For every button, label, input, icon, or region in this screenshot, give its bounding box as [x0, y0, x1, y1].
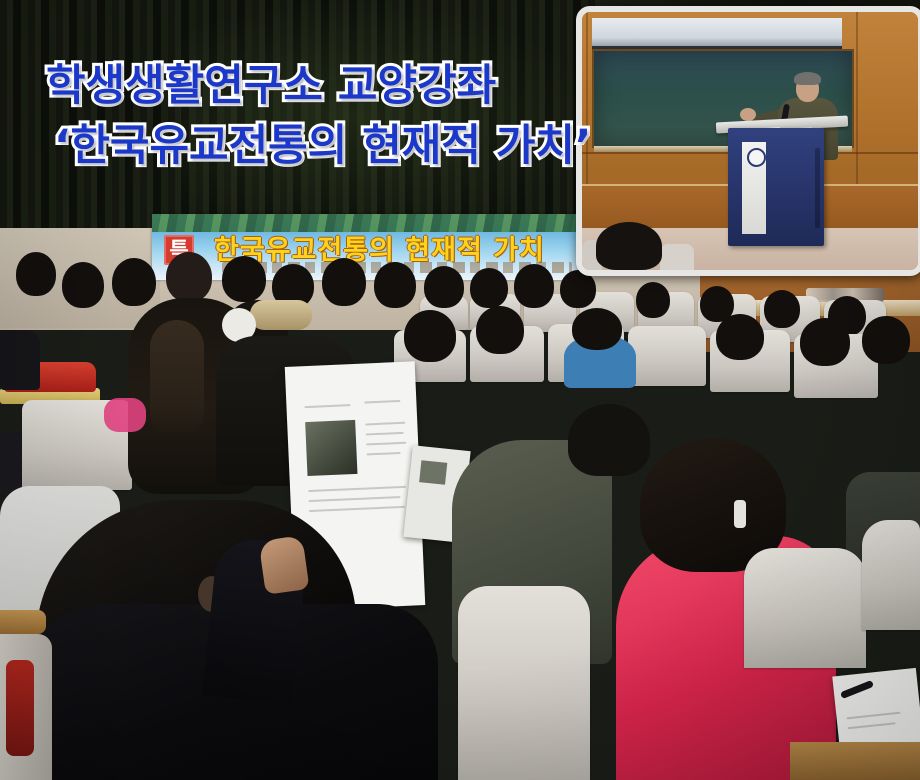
inset-projector-screen [592, 18, 842, 49]
audience-head [62, 262, 104, 308]
overlay-title-line2: ‘한국유교전통의 현재적 가치’ [54, 116, 666, 176]
seat-row [458, 586, 590, 780]
wood-desk [790, 742, 920, 780]
audience-head [476, 306, 524, 354]
seat-row [628, 326, 706, 386]
inset-podium-panel [742, 142, 766, 234]
audience-head [424, 266, 464, 308]
audience-head [404, 310, 456, 362]
seat-row [744, 548, 866, 668]
audience-head [572, 308, 622, 350]
notes-text-line [848, 722, 896, 729]
handout-text-line [365, 422, 405, 426]
hair-clip [734, 500, 746, 528]
wood-armrest-left [0, 610, 46, 634]
handout-text-line [366, 432, 404, 436]
handout-text-line [366, 442, 406, 446]
pink-scarf [104, 398, 146, 432]
inset-podium-side-shadow [815, 148, 820, 228]
inset-lecturer-hand [740, 108, 756, 121]
knit-hat [250, 300, 312, 330]
seat-row [862, 520, 920, 630]
inset-university-seal-icon [747, 148, 766, 167]
audience-head [322, 258, 366, 306]
handout-text-line [304, 404, 350, 408]
audience-head [716, 314, 764, 360]
notes-text-line [847, 712, 901, 720]
handout-photo [305, 420, 357, 476]
handout-text-line [367, 452, 401, 455]
hair-highlight [150, 320, 204, 440]
audience-head [800, 318, 850, 366]
audience-head [636, 282, 670, 318]
audience-head [764, 290, 800, 328]
foreground-person-hand [258, 535, 309, 595]
audience-head [16, 252, 56, 296]
audience-head [568, 404, 650, 476]
handout-text-line [309, 506, 405, 512]
red-seat-left [6, 660, 34, 756]
overlay-title-block: 학생생활연구소 교양강좌 ‘한국유교전통의 현재적 가치’ [46, 56, 666, 176]
inset-audience-chair [660, 244, 694, 270]
audience-head [374, 262, 416, 308]
audience-head [862, 316, 910, 364]
audience-head [222, 256, 266, 302]
handout-text-line [308, 486, 406, 492]
overlay-title-line1: 학생생활연구소 교양강좌 [46, 56, 666, 116]
audience-head [112, 258, 156, 306]
audience-head [470, 268, 508, 308]
audience-head [514, 264, 554, 308]
handout-photo [419, 460, 447, 485]
inset-audience-head [596, 222, 662, 270]
inset-lecturer-hair [794, 72, 821, 85]
audience-body [0, 330, 40, 390]
inset-podium [728, 128, 824, 246]
handout-text-line [364, 400, 400, 404]
notes-paper [832, 668, 920, 752]
handout-text-line [309, 496, 401, 502]
audience-head [166, 252, 212, 302]
event-photo: 특 한국유교전통의 현재적 가치 [0, 0, 920, 780]
